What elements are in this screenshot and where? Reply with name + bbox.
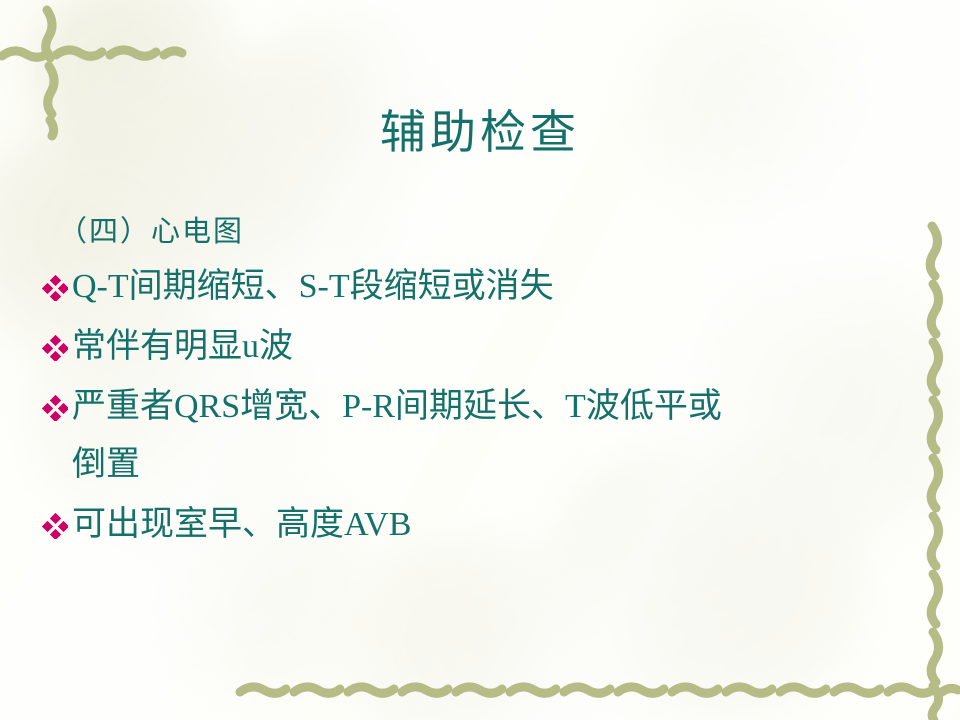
- list-item-line: 可出现室早、高度AVB: [72, 506, 411, 543]
- bottom-right-cross-vertical-rule: [912, 682, 956, 720]
- section-subheading: （四）心电图: [58, 214, 928, 250]
- list-item-text: 常伴有明显u波: [72, 318, 928, 376]
- diamond-cluster-bullet-icon: [38, 324, 72, 370]
- slide-body: （四）心电图 Q-T间期缩短、S-T段缩短或消失: [38, 214, 928, 556]
- list-item: Q-T间期缩短、S-T段缩短或消失: [38, 258, 928, 316]
- diamond-cluster-bullet-icon: [38, 384, 72, 430]
- list-item-text: Q-T间期缩短、S-T段缩短或消失: [72, 258, 928, 316]
- list-item: 严重者QRS增宽、P-R间期延长、T波低平或 倒置: [38, 378, 928, 494]
- diamond-cluster-bullet-icon: [38, 502, 72, 548]
- bottom-horizontal-wavy-rule: [236, 676, 960, 704]
- list-item-line-wrapped: 倒置: [72, 436, 928, 494]
- diamond-cluster-bullet-icon: [38, 264, 72, 310]
- list-item-text: 可出现室早、高度AVB: [72, 496, 928, 554]
- list-item-line: Q-T间期缩短、S-T段缩短或消失: [72, 268, 554, 305]
- list-item-line: 严重者QRS增宽、P-R间期延长、T波低平或: [72, 388, 722, 425]
- list-item: 可出现室早、高度AVB: [38, 496, 928, 554]
- slide-title: 辅助检查: [0, 96, 960, 162]
- list-item-line: 常伴有明显u波: [72, 328, 293, 365]
- top-horizontal-wavy-rule: [0, 40, 200, 66]
- list-item-text: 严重者QRS增宽、P-R间期延长、T波低平或 倒置: [72, 378, 928, 494]
- list-item: 常伴有明显u波: [38, 318, 928, 376]
- presentation-slide: 辅助检查 （四）心电图 Q-T间期缩短、S-T段缩短或消失: [0, 0, 960, 720]
